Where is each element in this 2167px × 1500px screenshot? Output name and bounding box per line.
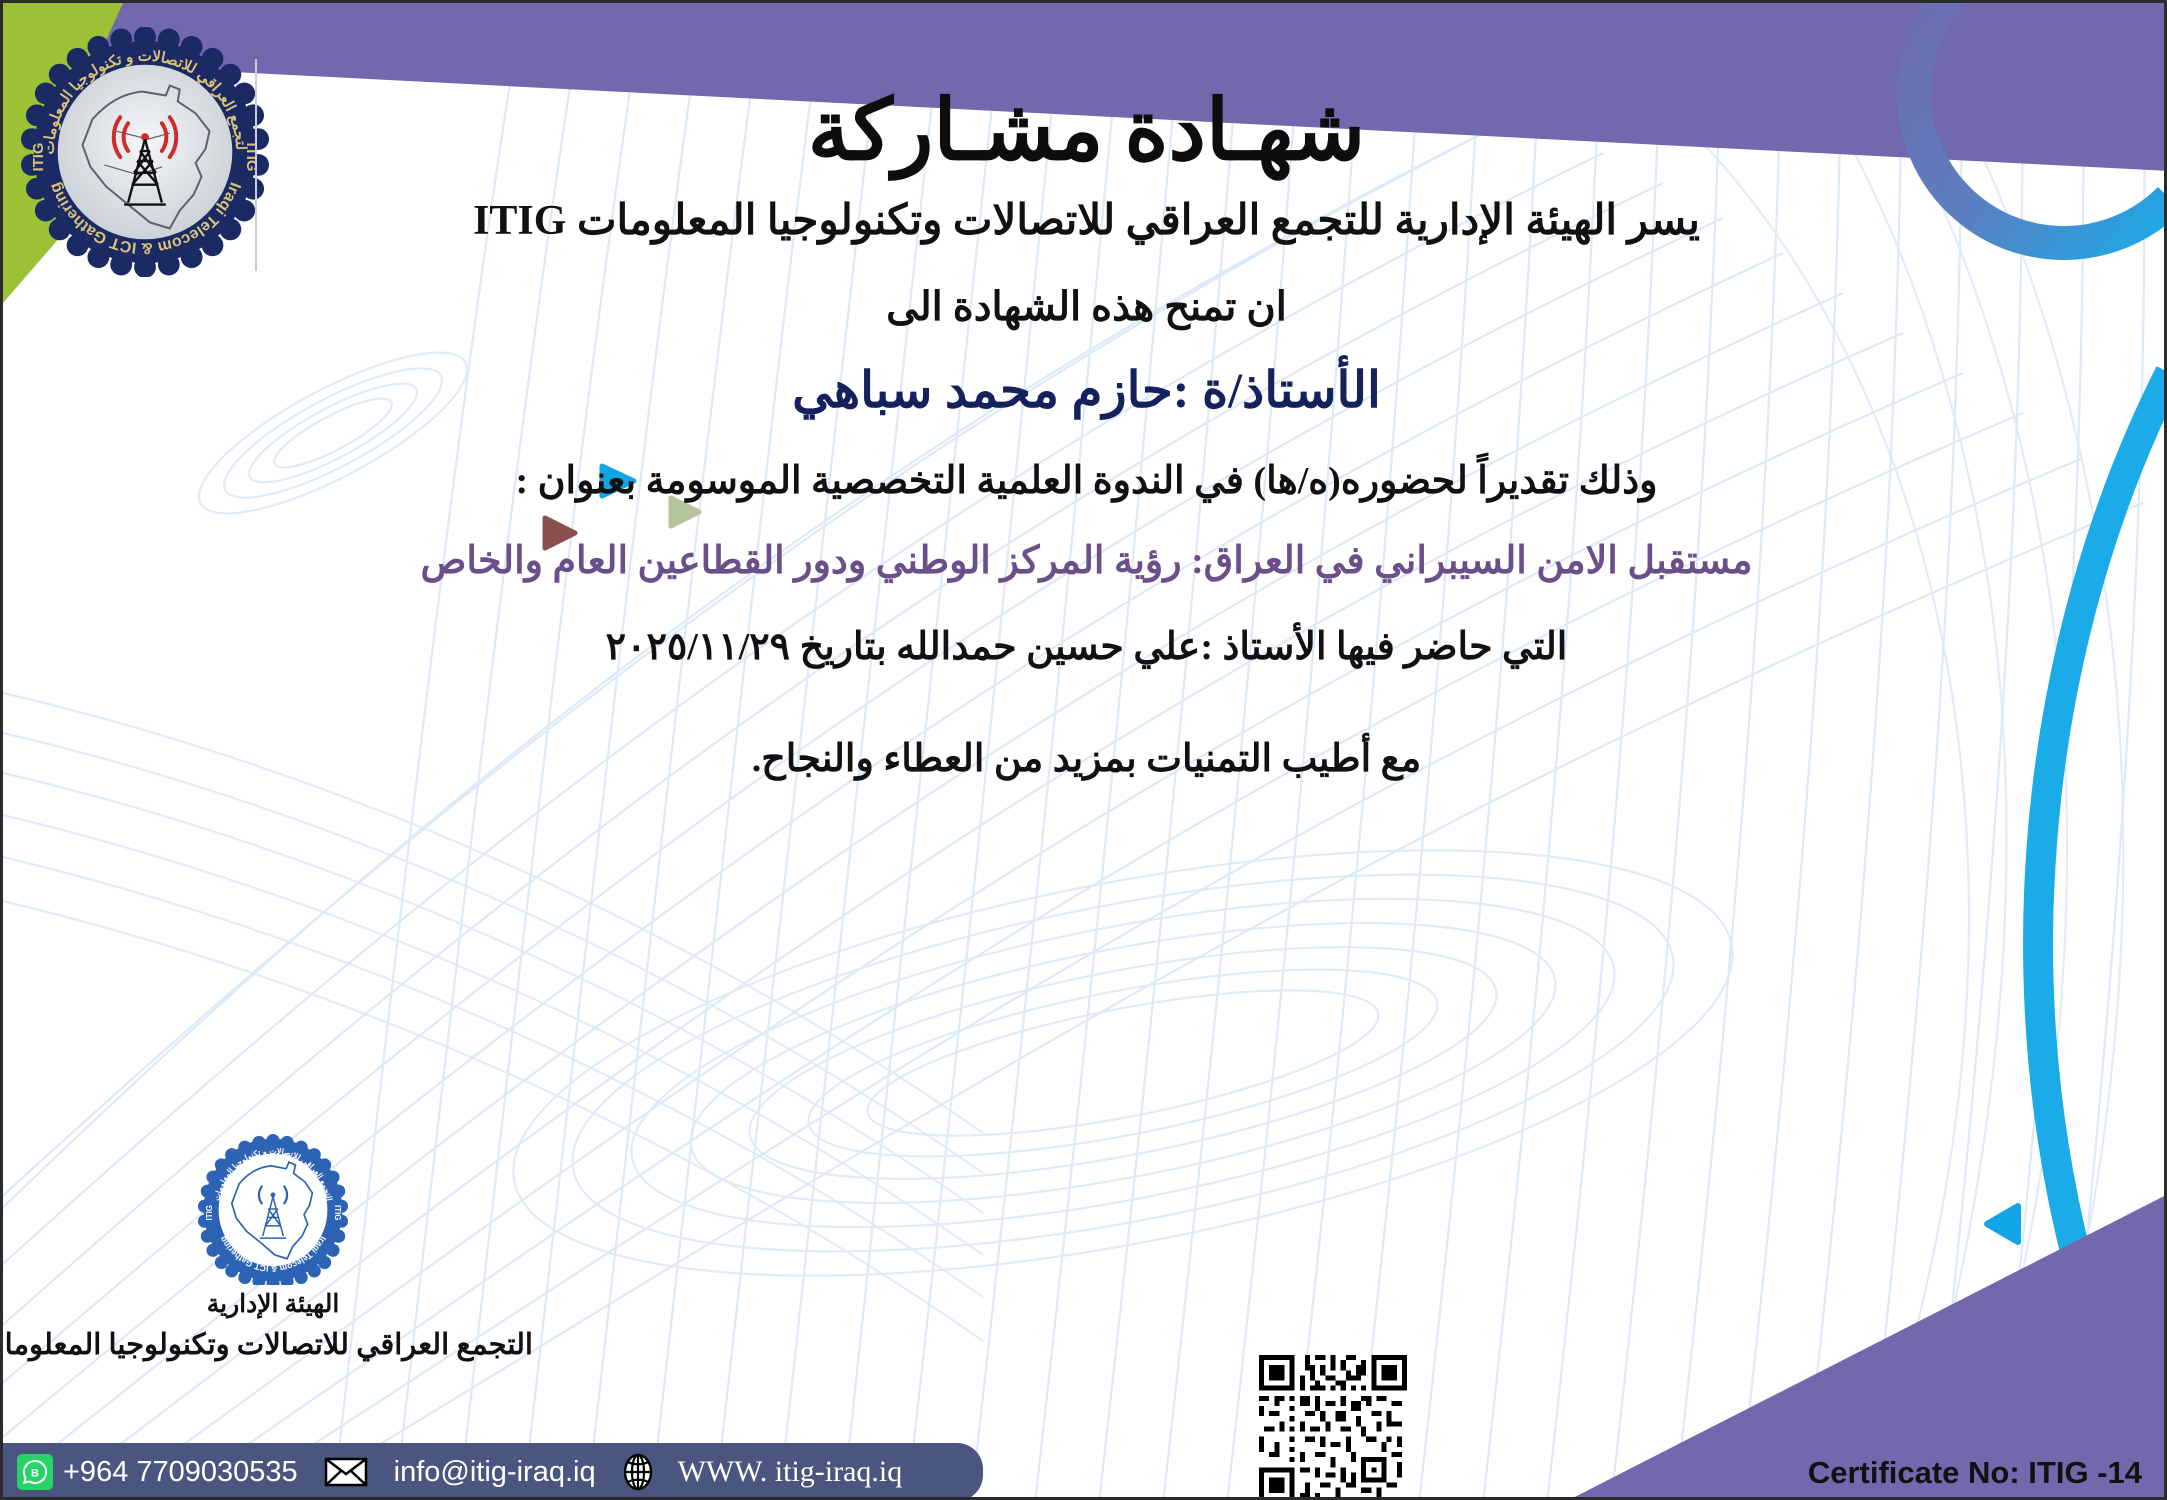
email-contact[interactable]: info@itig-iraq.iq xyxy=(324,1456,622,1489)
certificate-number: Certificate No: ITIG -14 xyxy=(1808,1455,2142,1491)
attendance-reason-line: وذلك تقديراً لحضوره(ه/ها) في الندوة العل… xyxy=(3,458,2167,503)
globe-icon xyxy=(622,1453,654,1491)
email-address: info@itig-iraq.iq xyxy=(394,1456,596,1489)
lecturer-and-date-line: التي حاضر فيها الأستاذ :علي حسين حمدالله… xyxy=(3,624,2167,669)
closing-wishes-line: مع أطيب التمنيات بمزيد من العطاء والنجاح… xyxy=(3,736,2167,781)
signature-authority-label: الهيئة الإدارية xyxy=(13,1289,533,1319)
signature-block: التجمع العراقي للاتصالات و تكنولوجيا الم… xyxy=(13,1133,533,1362)
whatsapp-icon: B xyxy=(17,1454,53,1490)
website-url: WWW. itig-iraq.iq xyxy=(678,1455,903,1489)
seminar-topic-title: مستقبل الامن السيبراني في العراق: رؤية ا… xyxy=(3,538,2167,583)
svg-text:B: B xyxy=(31,1468,39,1480)
page-title: شهـادة مشـاركة xyxy=(3,81,2167,180)
svg-text:ITIG: ITIG xyxy=(333,1205,342,1220)
svg-text:ITIG: ITIG xyxy=(205,1205,214,1220)
contact-footer-bar: B +964 7709030535 info@itig-iraq.iq xyxy=(3,1443,983,1500)
website-contact[interactable]: WWW. itig-iraq.iq xyxy=(622,1453,929,1491)
itig-stamp-seal: التجمع العراقي للاتصالات و تكنولوجيا الم… xyxy=(198,1133,348,1285)
certificate-page: التجمع العراقي للاتصالات و تكنولوجيا الم… xyxy=(0,0,2167,1500)
signature-organization-name: التجمع العراقي للاتصالات وتكنولوجيا المع… xyxy=(13,1327,533,1362)
phone-contact[interactable]: B +964 7709030535 xyxy=(17,1454,324,1490)
issuing-organization-line: يسر الهيئة الإدارية للتجمع العراقي للاتص… xyxy=(3,195,2167,245)
envelope-icon xyxy=(324,1457,368,1487)
grant-statement-line: ان تمنح هذه الشهادة الى xyxy=(3,283,2167,330)
qr-code[interactable] xyxy=(1259,1355,1407,1500)
recipient-name: الأستاذ/ة :حازم محمد سباهي xyxy=(3,361,2167,419)
phone-number: +964 7709030535 xyxy=(63,1456,298,1489)
